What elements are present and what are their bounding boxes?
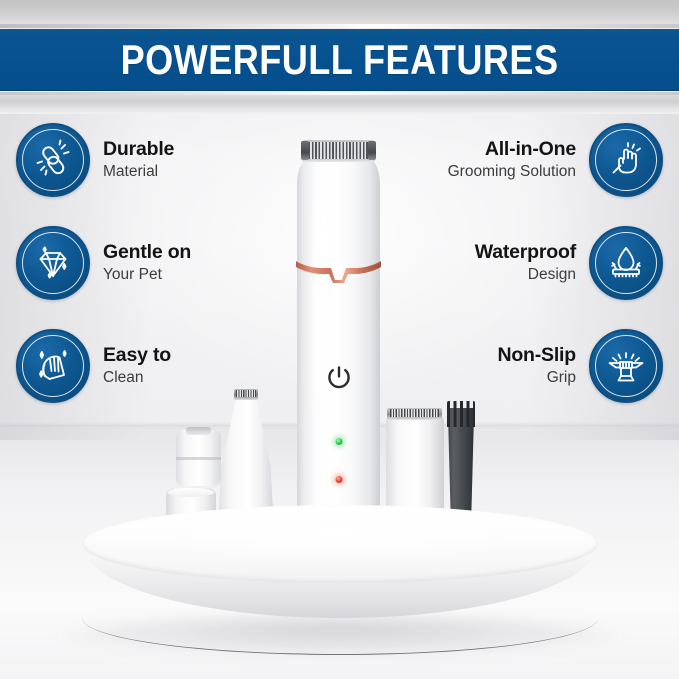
hand-clipper-icon [589,123,663,197]
feature-column-left: Durable Material [16,122,256,404]
header-metallic-strip-top [0,0,679,28]
feature-text: Easy to Clean [103,345,171,386]
feature-column-right: All-in-One Grooming Solution [423,122,663,404]
feature-text: Durable Material [103,139,174,180]
feature-text: Gentle on Your Pet [103,242,191,283]
product-feature-poster: POWERFULL FEATURES [0,0,679,679]
trimmer-blade-teeth [305,142,372,159]
feature-text: Waterproof Design [475,242,576,283]
feature-subtitle: Material [103,163,174,180]
feature-subtitle: Grip [497,369,576,386]
header-banner: POWERFULL FEATURES [0,29,679,91]
feature-item-all-in-one[interactable]: All-in-One Grooming Solution [423,122,663,198]
water-droplet-repel-icon [589,226,663,300]
feature-item-non-slip[interactable]: Non-Slip Grip [423,328,663,404]
trimmer-body [297,158,380,545]
chain-link-icon [16,123,90,197]
black-comb-teeth [447,401,475,427]
feature-title: All-in-One [448,139,576,161]
display-podium [82,505,598,633]
feature-subtitle: Design [475,266,576,283]
guide-comb-ring-top [176,430,221,486]
header-metallic-strip-bottom [0,92,679,114]
podium-highlight [142,511,538,565]
feature-title: Durable [103,139,174,161]
page-title: POWERFULL FEATURES [121,39,559,81]
feature-item-durable[interactable]: Durable Material [16,122,256,198]
cleaning-wipe-icon [16,329,90,403]
feature-subtitle: Your Pet [103,266,191,283]
green-led [335,438,342,445]
diamond-icon [16,226,90,300]
power-button[interactable] [322,362,355,395]
feature-title: Waterproof [475,242,576,264]
feature-item-easy-to-clean[interactable]: Easy to Clean [16,328,256,404]
grip-fist-icon [589,329,663,403]
feature-subtitle: Grooming Solution [448,163,576,180]
feature-text: All-in-One Grooming Solution [448,139,576,180]
pet-grooming-trimmer [297,140,380,545]
trimmer-blade-cap-left [301,141,309,160]
blade-block-teeth [390,409,439,417]
trimmer-blade-cap-right [368,141,376,160]
feature-title: Non-Slip [497,345,576,367]
feature-title: Gentle on [103,242,191,264]
feature-title: Easy to [103,345,171,367]
trimmer-accent-band [295,258,382,284]
feature-item-waterproof[interactable]: Waterproof Design [423,225,663,301]
feature-item-gentle-on[interactable]: Gentle on Your Pet [16,225,256,301]
red-led [335,476,342,483]
feature-subtitle: Clean [103,369,171,386]
feature-text: Non-Slip Grip [497,345,576,386]
